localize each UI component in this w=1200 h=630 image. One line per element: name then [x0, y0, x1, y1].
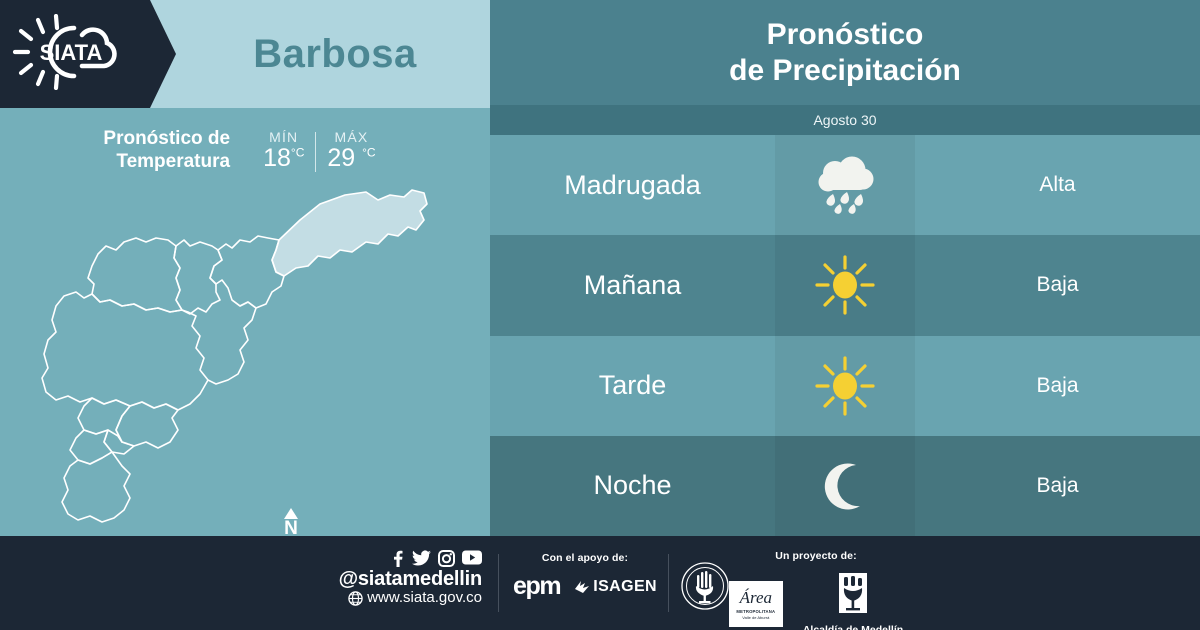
website-url: www.siata.gov.co: [367, 590, 482, 607]
footer: @siatamedellin www.siata.gov.co Con el a…: [0, 536, 1200, 630]
epm-logo: epm: [513, 574, 560, 599]
map-region-copacabana: [174, 240, 222, 314]
probability-label: Baja: [915, 474, 1200, 498]
instagram-icon[interactable]: [438, 550, 455, 567]
map-region-detail-north: [208, 300, 256, 384]
period-label: Mañana: [490, 270, 775, 301]
support-block: Con el apoyo de: epm ISAGEN: [505, 552, 665, 599]
max-label: MÁX: [335, 129, 369, 145]
project-block: Un proyecto de: Área METROPOLITANA Valle…: [726, 550, 906, 630]
logo-wordmark: SIATA: [40, 40, 103, 65]
map-region-la-estrella: [70, 430, 112, 464]
forecast-row-tarde: Tarde: [490, 336, 1200, 436]
social-block: @siatamedellin www.siata.gov.co: [330, 550, 482, 607]
globe-icon: [348, 591, 363, 606]
weather-forecast-poster: SIATA Barbosa Pronóstico de Temperatura …: [0, 0, 1200, 630]
map-region-sabaneta: [104, 430, 134, 454]
footer-divider-2: [668, 554, 669, 612]
rain-cloud-icon: [775, 135, 915, 235]
isagen-wordmark: ISAGEN: [593, 578, 657, 596]
precipitation-title-line1: Pronóstico: [767, 17, 924, 53]
period-label: Madrugada: [490, 170, 775, 201]
right-panel: Pronóstico de Precipitación Agosto 30 Ma…: [490, 0, 1200, 536]
project-caption: Un proyecto de:: [726, 550, 906, 562]
alcaldia-crest-icon: [836, 572, 870, 616]
min-label: MÍN: [269, 129, 298, 145]
precipitation-header: Pronóstico de Precipitación: [490, 0, 1200, 105]
university-seal-icon: [681, 562, 729, 610]
sun-icon: [775, 235, 915, 335]
forecast-row-noche: Noche Baja: [490, 436, 1200, 536]
twitter-icon[interactable]: [412, 550, 431, 567]
footer-divider-1: [498, 554, 499, 612]
sun-icon: [775, 336, 915, 436]
alcaldia-medellin-logo: Alcaldía de Medellín: [803, 572, 903, 630]
sun-cloud-icon: SIATA: [12, 14, 130, 90]
temperature-values: MÍN 18°C MÁX 29 °C: [252, 129, 387, 172]
social-handle[interactable]: @siatamedellin: [330, 569, 482, 590]
temperature-title: Pronóstico de Temperatura: [103, 127, 230, 173]
social-icons: [330, 550, 482, 567]
map-region-girardota: [210, 236, 284, 308]
map-region-medellin: [42, 292, 208, 410]
support-caption: Con el apoyo de:: [505, 552, 665, 564]
map-region-caldas: [62, 452, 130, 522]
isagen-logo: ISAGEN: [574, 578, 657, 596]
period-label: Tarde: [490, 370, 775, 401]
forecast-date: Agosto 30: [813, 112, 876, 128]
temperature-min: MÍN 18°C: [252, 129, 315, 171]
precipitation-title-line2: de Precipitación: [729, 53, 961, 89]
website-line[interactable]: www.siata.gov.co: [330, 590, 482, 607]
facebook-icon[interactable]: [390, 550, 405, 567]
period-label: Noche: [490, 470, 775, 501]
map-region-envigado: [116, 402, 178, 448]
amva-line3: Valle de Aburrá: [742, 615, 769, 620]
map-region-barbosa: [272, 190, 427, 276]
amva-script: Área: [740, 589, 772, 606]
left-panel: SIATA Barbosa Pronóstico de Temperatura …: [0, 0, 490, 536]
forecast-rows: Madrugada: [490, 135, 1200, 536]
probability-label: Alta: [915, 173, 1200, 197]
temperature-title-line1: Pronóstico de: [103, 127, 230, 150]
temperature-forecast: Pronóstico de Temperatura MÍN 18°C MÁX 2…: [0, 118, 490, 182]
temperature-title-line2: Temperatura: [103, 150, 230, 173]
probability-label: Baja: [915, 273, 1200, 297]
forecast-date-band: Agosto 30: [490, 105, 1200, 135]
forecast-row-madrugada: Madrugada: [490, 135, 1200, 235]
alcaldia-label: Alcaldía de Medellín: [803, 624, 903, 630]
support-logos: epm ISAGEN: [505, 574, 665, 599]
city-title: Barbosa: [180, 0, 490, 108]
area-metropolitana-logo: Área METROPOLITANA Valle de Aburrá: [729, 581, 783, 627]
temperature-max: MÁX 29 °C: [316, 129, 386, 171]
isagen-mark-icon: [574, 580, 590, 594]
north-arrow: N: [276, 508, 306, 538]
probability-label: Baja: [915, 374, 1200, 398]
max-value: 29 °C: [327, 146, 375, 171]
map-region-itagui: [78, 398, 130, 442]
forecast-row-manana: Mañana: [490, 235, 1200, 335]
amva-line2: METROPOLITANA: [736, 609, 775, 614]
youtube-icon[interactable]: [462, 550, 482, 565]
valley-map: N: [0, 180, 490, 536]
min-unit: °C: [291, 145, 304, 159]
map-svg: [0, 180, 490, 536]
siata-logo-block: SIATA: [0, 0, 150, 108]
min-value: 18°C: [263, 146, 304, 171]
project-logos: Área METROPOLITANA Valle de Aburrá: [726, 572, 906, 630]
moon-icon: [775, 436, 915, 536]
max-unit: °C: [362, 145, 375, 159]
logo-arrow-shape: [150, 0, 176, 108]
